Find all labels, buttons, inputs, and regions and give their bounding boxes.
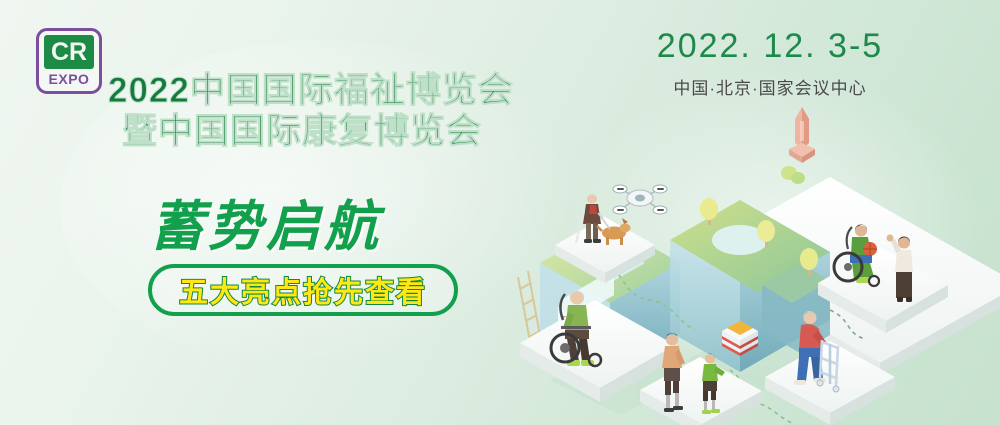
promo-banner: CR EXPO 2022中国国际福祉博览会 暨中国国际康复博览会 蓄势启航 五大… (0, 0, 1000, 425)
event-date: 2022. 12. 3-5 (645, 28, 895, 65)
logo-sub-text: EXPO (49, 71, 90, 87)
headline-block: 2022中国国际福祉博览会 暨中国国际康复博览会 (108, 70, 558, 153)
drone-icon (613, 185, 667, 214)
isometric-illustration (500, 95, 1000, 425)
event-info-block: 2022. 12. 3-5 中国·北京·国家会议中心 (645, 28, 895, 99)
bush (781, 166, 805, 184)
monument-tower (789, 107, 815, 163)
logo-mark-text: CR (44, 35, 94, 69)
cr-expo-logo[interactable]: CR EXPO (36, 28, 102, 94)
cta-button-label: 五大亮点抢先查看 (179, 269, 427, 311)
slogan-text: 蓄势启航 (150, 182, 382, 261)
headline-line-1: 2022中国国际福祉博览会 (108, 70, 558, 111)
headline-line-2: 暨中国国际康复博览会 (108, 111, 558, 152)
cta-button[interactable]: 五大亮点抢先查看 (148, 264, 458, 316)
